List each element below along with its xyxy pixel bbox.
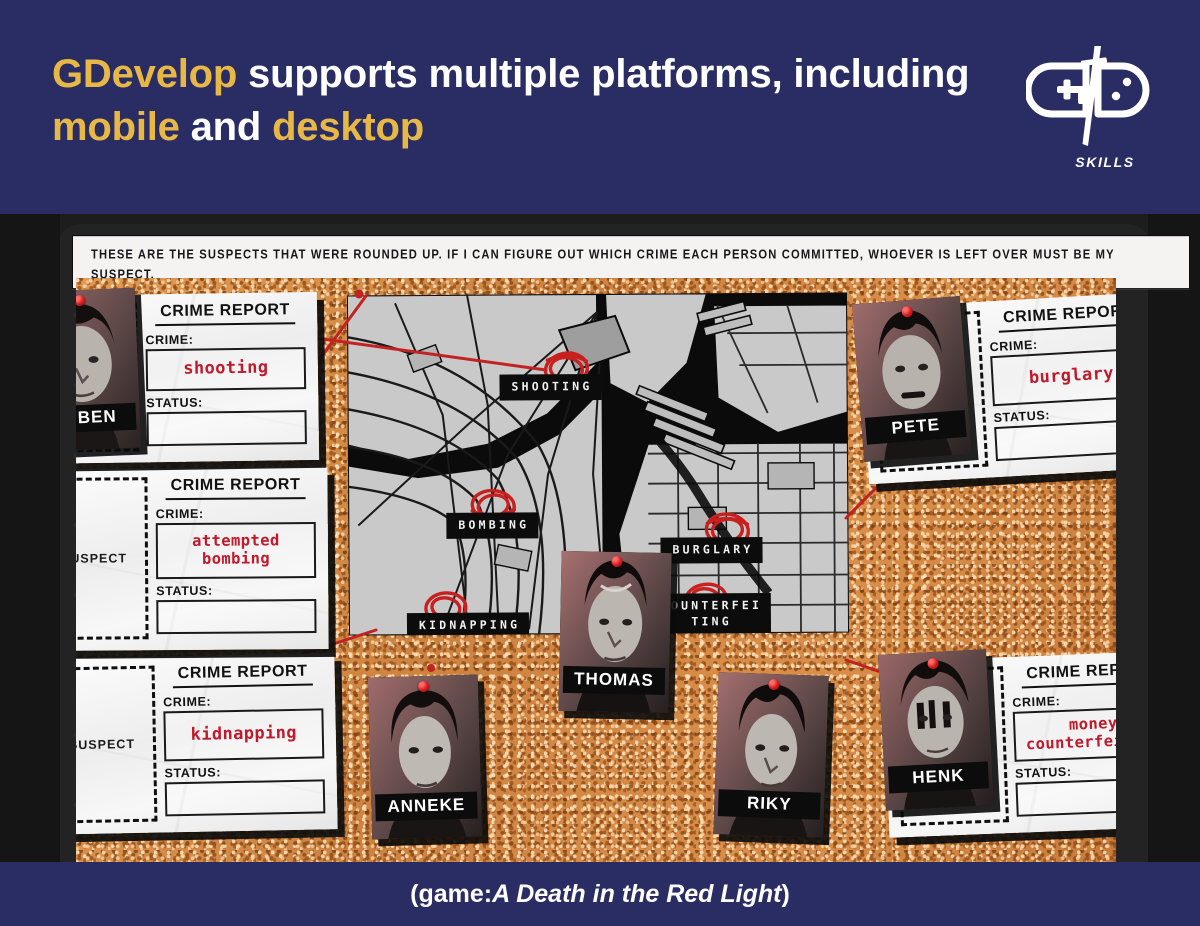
crime-field-box[interactable]: money counterfeiting [1013, 706, 1116, 762]
crime-report-attempted-bombing[interactable]: SUSPECT CRIME REPORT CRIME: attempted bo… [76, 467, 329, 651]
corkboard: SHOOTING BOMBING KIDNAPPING BURGLARY COU… [76, 278, 1116, 862]
caption-prefix: (game: [410, 880, 492, 909]
page-title: GDevelop supports multiple platforms, in… [52, 48, 982, 154]
caption-bar: (game: A Death in the Red Light) [0, 862, 1200, 926]
crime-field-box[interactable]: kidnapping [163, 708, 324, 761]
map-label-kidnapping[interactable]: KIDNAPPING [407, 612, 529, 635]
status-field-box[interactable] [156, 599, 316, 634]
report-title: CRIME REPORT [165, 476, 305, 500]
suspect-name-henk: HENK [888, 761, 989, 793]
status-field-box[interactable] [994, 418, 1116, 461]
suspect-card-thomas[interactable]: THOMAS [558, 551, 671, 713]
title-part-mid1: supports multiple platforms, including [237, 52, 969, 96]
report-title: CRIME REPORT [1021, 660, 1116, 688]
suspect-card-anneke[interactable]: ANNEKE [368, 674, 482, 839]
suspect-name-anneke: ANNEKE [375, 792, 477, 822]
suspect-name-thomas: THOMAS [563, 666, 665, 695]
status-field-label: STATUS: [164, 763, 324, 780]
header-banner: GDevelop supports multiple platforms, in… [0, 0, 1200, 214]
crime-value-line1: attempted [192, 531, 280, 550]
report-body: CRIME REPORT CRIME: kidnapping STATUS: [162, 662, 325, 821]
gamepad-sword-icon [1026, 44, 1158, 148]
report-body: CRIME REPORT CRIME: money counterfeiting… [1011, 660, 1116, 822]
crime-field-box[interactable]: shooting [146, 347, 307, 391]
map-label-counterfeiting-line2: TING [691, 614, 732, 628]
report-body: CRIME REPORT CRIME: burglary STATUS: [988, 301, 1116, 466]
crime-field-value: attempted bombing [192, 532, 280, 568]
crime-field-label: CRIME: [163, 692, 323, 709]
map-label-shooting[interactable]: SHOOTING [499, 374, 601, 400]
crime-field-label: CRIME: [145, 331, 305, 347]
game-screenshot: THESE ARE THE SUSPECTS THAT WERE ROUNDED… [0, 214, 1200, 862]
suspect-card-henk[interactable]: HENK [878, 649, 994, 810]
title-part-gdevelop: GDevelop [52, 52, 237, 96]
report-title: CRIME REPORT [172, 663, 312, 689]
crime-field-value: kidnapping [190, 724, 297, 746]
suspect-card-ruben[interactable]: RUBEN [76, 288, 141, 453]
crime-value-line2: bombing [202, 549, 270, 567]
report-body: CRIME REPORT CRIME: shooting STATUS: [145, 301, 307, 451]
map-label-counterfeiting-line1: COUNTERFEI [661, 598, 762, 613]
suspect-name-ruben: RUBEN [76, 403, 136, 434]
suspect-card-pete[interactable]: PETE [852, 296, 972, 462]
crime-field-value: money counterfeiting [1025, 713, 1116, 754]
screen-right-bezel [1148, 214, 1200, 862]
status-field-box[interactable] [146, 410, 306, 446]
caption-game-title: A Death in the Red Light [492, 880, 781, 909]
title-part-mid2: and [180, 105, 272, 149]
slide-root: GDevelop supports multiple platforms, in… [0, 0, 1200, 926]
gdevelop-skills-logo: SKILLS [1026, 44, 1158, 172]
status-field-label: STATUS: [146, 394, 306, 410]
crime-field-box[interactable]: attempted bombing [156, 522, 316, 579]
crime-field-value: shooting [183, 359, 268, 380]
string-pin-kidnapping [427, 664, 435, 672]
screen-left-bezel [0, 214, 60, 862]
title-part-desktop: desktop [272, 105, 424, 149]
report-title: CRIME REPORT [155, 301, 295, 326]
suspect-slot-label: SUSPECT [76, 737, 135, 752]
caption-suffix: ) [781, 880, 789, 909]
crime-field-box[interactable]: burglary [990, 347, 1116, 406]
suspect-slot-label: SUSPECT [76, 551, 127, 565]
crime-value-line1: money [1069, 714, 1116, 734]
suspect-slot-attempted-bombing[interactable]: SUSPECT [76, 477, 149, 640]
suspect-slot-kidnapping[interactable]: SUSPECT [76, 666, 157, 824]
logo-skills-text: SKILLS [1026, 154, 1158, 170]
crime-field-value: burglary [1028, 365, 1114, 389]
crime-value-line2: counterfeiting [1026, 730, 1116, 753]
report-title: CRIME REPORT [998, 302, 1116, 333]
title-part-mobile: mobile [52, 105, 180, 149]
status-field-label: STATUS: [156, 583, 316, 598]
suspect-name-riky: RIKY [718, 789, 820, 820]
status-field-box[interactable] [1015, 777, 1116, 817]
suspect-card-riky[interactable]: RIKY [713, 672, 829, 838]
report-body: CRIME REPORT CRIME: attempted bombing ST… [155, 476, 316, 639]
crime-field-label: CRIME: [156, 506, 316, 521]
status-field-box[interactable] [165, 779, 326, 816]
map-label-burglary[interactable]: BURGLARY [660, 537, 762, 563]
crime-field-label: CRIME: [1012, 690, 1116, 710]
crime-report-kidnapping[interactable]: SUSPECT CRIME REPORT CRIME: kidnapping S… [76, 653, 338, 835]
map-label-bombing[interactable]: BOMBING [446, 512, 538, 538]
status-field-label: STATUS: [1015, 761, 1116, 781]
